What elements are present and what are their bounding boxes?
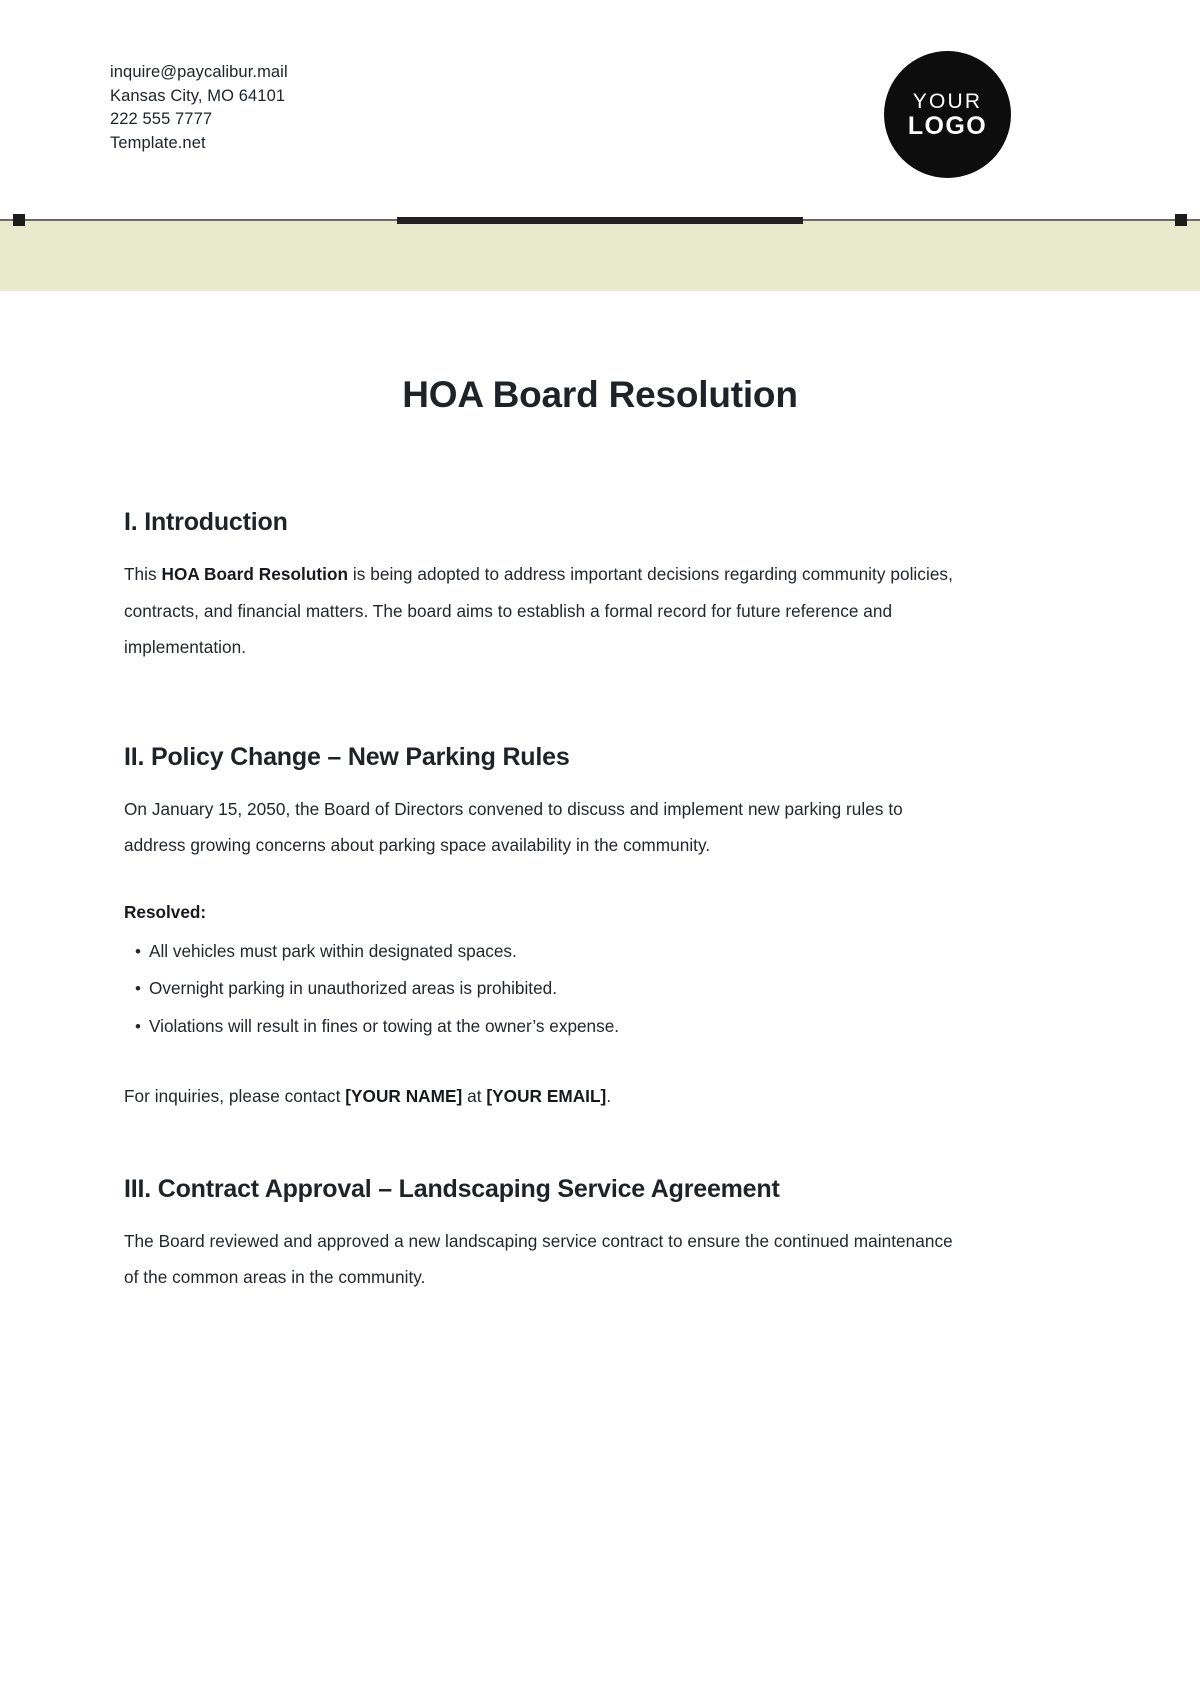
section-paragraph-policy-change: On January 15, 2050, the Board of Direct… bbox=[124, 791, 964, 864]
section-heading-introduction: I. Introduction bbox=[124, 508, 964, 537]
section-paragraph-introduction: This HOA Board Resolution is being adopt… bbox=[124, 556, 964, 666]
list-item: Overnight parking in unauthorized areas … bbox=[149, 970, 964, 1008]
resolved-label: Resolved: bbox=[124, 897, 964, 927]
section-paragraph-contract-approval: The Board reviewed and approved a new la… bbox=[124, 1223, 964, 1296]
intro-text-prefix: This bbox=[124, 564, 162, 584]
header-accent-bar bbox=[397, 217, 803, 224]
intro-text-bold: HOA Board Resolution bbox=[162, 564, 349, 584]
logo-line-logo: LOGO bbox=[908, 113, 987, 139]
resolved-bullet-list: All vehicles must park within designated… bbox=[124, 933, 964, 1046]
section-heading-contract-approval: III. Contract Approval – Landscaping Ser… bbox=[124, 1175, 964, 1204]
inquiries-contact-line: For inquiries, please contact [YOUR NAME… bbox=[124, 1078, 964, 1115]
inquiries-middle: at bbox=[462, 1086, 486, 1106]
divider-square-left bbox=[13, 214, 25, 226]
placeholder-your-name: [YOUR NAME] bbox=[345, 1086, 462, 1106]
logo-placeholder: YOUR LOGO bbox=[884, 51, 1011, 178]
list-item: All vehicles must park within designated… bbox=[149, 933, 964, 971]
header-color-band bbox=[0, 221, 1200, 291]
contact-website: Template.net bbox=[110, 132, 288, 156]
inquiries-prefix: For inquiries, please contact bbox=[124, 1086, 345, 1106]
section-heading-policy-change: II. Policy Change – New Parking Rules bbox=[124, 743, 964, 772]
contact-address: Kansas City, MO 64101 bbox=[110, 85, 288, 109]
contact-phone: 222 555 7777 bbox=[110, 108, 288, 132]
divider-square-right bbox=[1175, 214, 1187, 226]
contact-email: inquire@paycalibur.mail bbox=[110, 61, 288, 85]
page-title: HOA Board Resolution bbox=[0, 374, 1200, 416]
placeholder-your-email: [YOUR EMAIL] bbox=[486, 1086, 606, 1106]
document-header: inquire@paycalibur.mail Kansas City, MO … bbox=[0, 0, 1200, 190]
inquiries-suffix: . bbox=[606, 1086, 611, 1106]
list-item: Violations will result in fines or towin… bbox=[149, 1008, 964, 1046]
logo-line-your: YOUR bbox=[913, 90, 982, 113]
document-body: I. Introduction This HOA Board Resolutio… bbox=[124, 508, 964, 1296]
contact-block: inquire@paycalibur.mail Kansas City, MO … bbox=[110, 61, 288, 155]
